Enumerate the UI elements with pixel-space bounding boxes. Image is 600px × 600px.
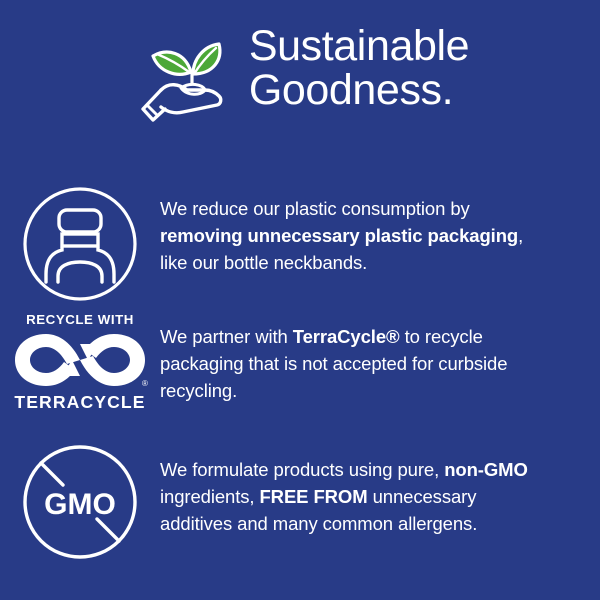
feature-text-plastic-reduction: We reduce our plastic consumption by rem… xyxy=(160,186,532,276)
page-title: Sustainable Goodness. xyxy=(249,22,469,112)
terracycle-top-label: RECYCLE WITH xyxy=(26,312,134,327)
text-segment-bold: TerraCycle® xyxy=(293,326,400,347)
text-segment: We reduce our plastic consumption by xyxy=(160,198,470,219)
feature-text-non-gmo: We formulate products using pure, non-GM… xyxy=(160,444,532,537)
text-segment: We partner with xyxy=(160,326,293,347)
header: Sustainable Goodness. xyxy=(0,22,600,130)
plastic-bottle-in-circle-icon xyxy=(22,186,138,302)
feature-text-terracycle: We partner with TerraCycle® to recycle p… xyxy=(160,310,532,404)
feature-row-plastic-reduction: We reduce our plastic consumption by rem… xyxy=(0,186,600,302)
text-segment-bold: non-GMO xyxy=(444,459,528,480)
no-gmo-icon: GMO xyxy=(22,444,138,560)
infographic-panel: Sustainable Goodness. We reduce our pl xyxy=(0,0,600,600)
terracycle-wordmark: TERRACYCLE xyxy=(14,393,145,412)
feature-icon-container xyxy=(0,186,160,302)
feature-row-terracycle: RECYCLE WITH ® TERRACY xyxy=(0,310,600,412)
gmo-label: GMO xyxy=(44,488,116,521)
text-segment-bold: FREE FROM xyxy=(259,486,367,507)
feature-icon-container: GMO xyxy=(0,444,160,560)
feature-icon-container: RECYCLE WITH ® TERRACY xyxy=(0,310,160,412)
text-segment: We formulate products using pure, xyxy=(160,459,444,480)
hand-holding-plant-icon xyxy=(131,26,235,130)
terracycle-infinity-arrows-icon: ® xyxy=(12,332,148,388)
registered-mark: ® xyxy=(142,379,148,388)
text-segment-bold: removing unnecessary plastic packaging xyxy=(160,225,518,246)
text-segment: ingredients, xyxy=(160,486,259,507)
terracycle-logo: RECYCLE WITH ® TERRACY xyxy=(9,312,151,412)
feature-row-non-gmo: GMO We formulate products using pure, no… xyxy=(0,444,600,560)
